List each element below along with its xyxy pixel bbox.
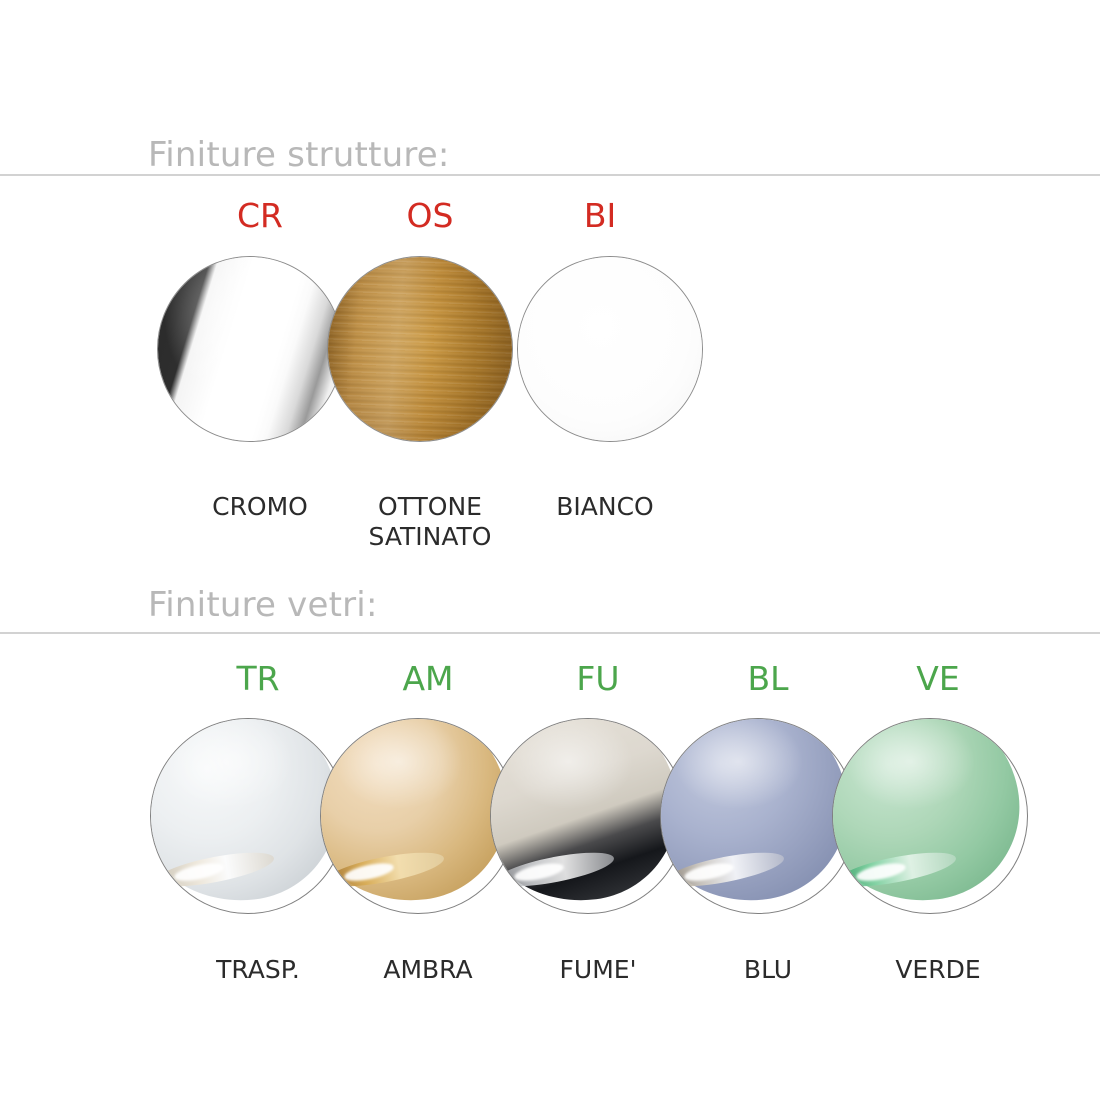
finish-code-am: AM [343,662,513,695]
bianco-surface [518,257,702,441]
finish-code-tr: TR [173,662,343,695]
finish-code-cr: CR [175,199,345,232]
section-heading-structures: Finiture strutture: [148,138,450,172]
section-divider-structures [0,174,1100,176]
finish-label-fume: FUME' [513,955,683,985]
finish-label-ottone-satinato: OTTONE SATINATO [340,492,520,551]
finish-swatch-blu[interactable] [660,718,856,914]
section-heading-glass: Finiture vetri: [148,588,378,622]
chrome-highlight-icon [158,257,342,441]
finish-label-ambra: AMBRA [343,955,513,985]
finish-label-verde: VERDE [853,955,1023,985]
brass-sheen-icon [328,257,512,441]
finish-label-cromo: CROMO [175,492,345,522]
finishes-chart: Finiture strutture: CR CROMO OS OTTONE S… [0,0,1100,1100]
finish-swatch-cromo[interactable] [157,256,343,442]
finish-code-fu: FU [513,662,683,695]
finish-code-bi: BI [515,199,685,232]
finish-swatch-fume[interactable] [490,718,686,914]
finish-swatch-verde[interactable] [832,718,1028,914]
finish-code-os: OS [345,199,515,232]
section-divider-glass [0,632,1100,634]
finish-label-bianco: BIANCO [520,492,690,522]
finish-swatch-trasparente[interactable] [150,718,346,914]
finish-label-trasp: TRASP. [173,955,343,985]
finish-code-ve: VE [853,662,1023,695]
finish-swatch-ottone-satinato[interactable] [327,256,513,442]
finish-swatch-bianco[interactable] [517,256,703,442]
finish-code-bl: BL [683,662,853,695]
finish-swatch-ambra[interactable] [320,718,516,914]
finish-label-blu: BLU [683,955,853,985]
